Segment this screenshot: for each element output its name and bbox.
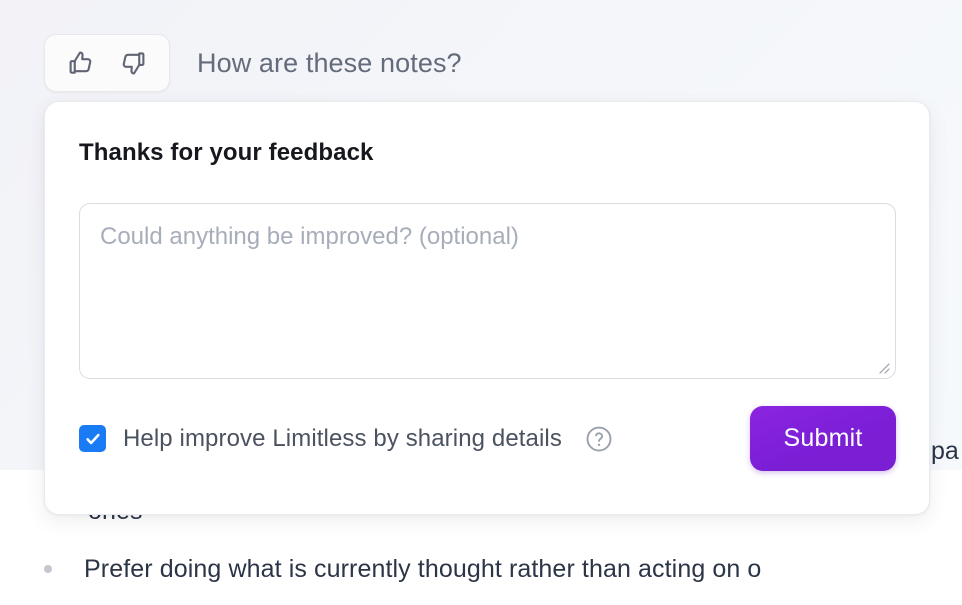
bullet-dot-icon — [44, 565, 52, 573]
share-details-label: Help improve Limitless by sharing detail… — [123, 425, 562, 453]
thumbs-down-icon — [118, 48, 148, 78]
comment-field-wrapper — [79, 203, 895, 379]
card-title: Thanks for your feedback — [79, 139, 895, 167]
thumbs-up-icon — [66, 48, 96, 78]
background-bullet-item: Prefer doing what is currently thought r… — [44, 552, 761, 586]
background-bullet-text: Prefer doing what is currently thought r… — [84, 552, 761, 586]
feedback-prompt-text: How are these notes? — [197, 48, 462, 79]
share-details-checkbox[interactable] — [79, 425, 106, 452]
help-circle-icon[interactable] — [584, 424, 614, 454]
submit-button[interactable]: Submit — [750, 406, 896, 471]
thumbs-down-button[interactable] — [111, 44, 155, 82]
feedback-card: Thanks for your feedback Help improve Li… — [44, 101, 930, 515]
card-footer-row: Help improve Limitless by sharing detail… — [79, 406, 896, 471]
background-right-clipped-text: pa — [931, 437, 959, 466]
feedback-comment-input[interactable] — [79, 203, 896, 379]
thumbs-up-button[interactable] — [59, 44, 103, 82]
rating-pill — [44, 34, 170, 92]
